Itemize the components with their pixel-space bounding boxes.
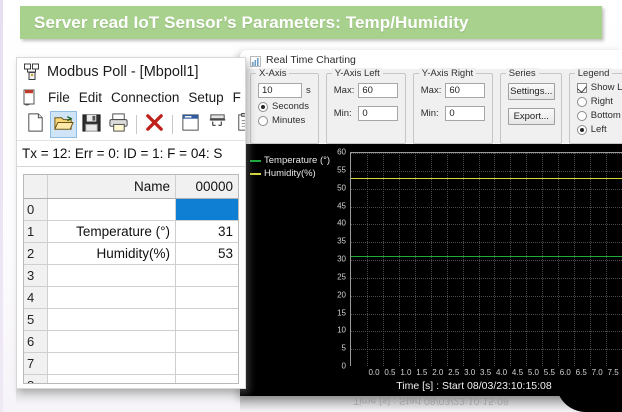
show-legend-option[interactable]: Show Legend [577, 82, 622, 93]
new-file-icon [25, 112, 46, 138]
chart-gridline-horizontal [351, 331, 622, 332]
open-folder-icon [53, 112, 74, 138]
chart-y-axis-ticks: 051015202530354045505560 [326, 152, 346, 366]
x-tick-label: 0.0 [368, 368, 379, 377]
y-left-max-input[interactable]: 60 [358, 83, 397, 98]
modbus-window-reflection [16, 387, 244, 405]
slide-left-border [0, 0, 3, 412]
chart-gridline-vertical [494, 153, 495, 366]
chart-gridline-vertical [590, 153, 591, 366]
x-tick-label: 1.0 [400, 368, 411, 377]
modbus-toolbar [17, 109, 245, 141]
slide-title-banner: Server read IoT Sensor’s Parameters: Tem… [20, 6, 602, 39]
table-row[interactable]: 3 [24, 265, 238, 287]
y-axis-left-group: Y-Axis Left Max: 60 Min: 0 [326, 73, 406, 144]
y-tick-label: 35 [337, 237, 346, 246]
x-tick-label: 2.5 [448, 368, 459, 377]
radio-legend-right-icon[interactable] [577, 97, 587, 107]
charting-titlebar: Real Time Charting [240, 50, 622, 69]
table-row[interactable]: 0 [24, 199, 238, 221]
row-value-cell[interactable] [176, 309, 238, 330]
x-axis-seconds-label: Seconds [272, 101, 309, 112]
table-row[interactable]: 6 [24, 331, 238, 353]
y-left-max-label: Max: [334, 85, 355, 96]
table-row[interactable]: 1Temperature (°)31 [24, 221, 238, 243]
real-time-charting-window: Real Time Charting X-Axis 10 s Seconds M… [240, 50, 622, 396]
y-tick-label: 15 [337, 308, 346, 317]
y-right-min-label: Min: [421, 108, 442, 119]
x-tick-label: 6.0 [560, 368, 571, 377]
clipboard-icon [234, 112, 245, 138]
row-name-cell[interactable] [48, 265, 176, 286]
row-index-cell: 8 [24, 375, 48, 384]
modbus-poll-window: Modbus Poll - [Mbpoll1] FileEditConnecti… [16, 57, 246, 389]
y-axis-right-group-title: Y-Axis Right [419, 68, 476, 79]
modbus-window-title: Modbus Poll - [Mbpoll1] [47, 64, 199, 80]
row-index-cell: 6 [24, 331, 48, 352]
y-left-min-input[interactable]: 0 [358, 106, 397, 121]
y-tick-label: 0 [342, 362, 346, 371]
legend-color-swatch [250, 160, 261, 162]
menu-item-f[interactable]: F [233, 90, 241, 105]
chart-gridline-horizontal [351, 278, 622, 279]
series-export-button[interactable]: Export... [508, 108, 555, 125]
table-row[interactable]: 7 [24, 353, 238, 375]
y-tick-label: 10 [337, 326, 346, 335]
table-row[interactable]: 4 [24, 287, 238, 309]
menu-item-edit[interactable]: Edit [79, 90, 102, 105]
x-axis-unit-label: s [306, 85, 311, 96]
toolbar-separator [172, 115, 173, 134]
legend-label: Humidity(%) [264, 168, 316, 179]
y-tick-label: 45 [337, 201, 346, 210]
x-tick-label: 1.5 [416, 368, 427, 377]
chart-gridline-horizontal [351, 153, 622, 154]
x-tick-label: 3.5 [480, 368, 491, 377]
y-tick-label: 55 [337, 165, 346, 174]
chart-gridline-horizontal [351, 242, 622, 243]
radio-seconds-icon[interactable] [258, 102, 268, 112]
x-tick-label: 7.5 [608, 368, 619, 377]
x-tick-label: 7.0 [592, 368, 603, 377]
toolbar-print-button[interactable] [106, 112, 131, 137]
chart-window-icon [250, 54, 261, 65]
row-value-cell[interactable]: 53 [176, 243, 238, 264]
chart-gridline-vertical [479, 153, 480, 366]
y-tick-label: 5 [342, 344, 346, 353]
y-tick-label: 20 [337, 290, 346, 299]
y-tick-label: 50 [337, 183, 346, 192]
menu-item-connection[interactable]: Connection [111, 90, 179, 105]
header-address-cell: 00000 [176, 175, 238, 198]
toolbar-clipboard-button[interactable] [232, 112, 245, 137]
header-corner-cell [24, 175, 48, 198]
row-name-cell[interactable] [48, 287, 176, 308]
page-title: Server read IoT Sensor’s Parameters: Tem… [20, 13, 469, 33]
chart-gridline-horizontal [351, 171, 622, 172]
x-tick-label: 0.5 [384, 368, 395, 377]
slide-canvas: Server read IoT Sensor’s Parameters: Tem… [0, 0, 622, 412]
chart-gridline-vertical [367, 153, 368, 366]
row-name-cell[interactable]: Humidity(%) [48, 243, 176, 264]
charting-window-title: Real Time Charting [266, 54, 356, 66]
modbus-menubar: FileEditConnectionSetupF [17, 85, 245, 109]
row-value-cell[interactable]: 31 [176, 221, 238, 242]
y-axis-right-group: Y-Axis Right Max: 60 Min: 0 [413, 73, 493, 144]
y-tick-label: 30 [337, 255, 346, 264]
x-axis-group-title: X-Axis [256, 68, 289, 79]
legend-color-swatch [250, 173, 261, 175]
radio-legend-bottom-icon[interactable] [577, 111, 587, 121]
chart-gridline-vertical [447, 153, 448, 366]
series-group-title: Series [506, 68, 539, 79]
table-row[interactable]: 5 [24, 309, 238, 331]
y-right-max-input[interactable]: 60 [445, 83, 484, 98]
row-value-cell[interactable] [176, 287, 238, 308]
show-legend-label: Show Legend [591, 82, 622, 93]
x-tick-label: 4.5 [512, 368, 523, 377]
document-icon [23, 89, 38, 106]
chart-gridline-vertical [606, 153, 607, 366]
toolbar-read-write-definition-button[interactable] [205, 112, 230, 137]
chart-legend: Temperature (°)Humidity(%) [250, 154, 324, 180]
chart-gridline-vertical [415, 153, 416, 366]
chart-gridline-vertical [526, 153, 527, 366]
row-index-cell: 7 [24, 353, 48, 374]
chart-gridline-horizontal [351, 260, 622, 261]
row-value-cell[interactable] [176, 375, 238, 384]
y-tick-label: 40 [337, 219, 346, 228]
legend-bottom-label: Bottom [591, 110, 621, 121]
series-group: Series Settings... Export... [500, 73, 562, 144]
row-value-cell[interactable] [176, 331, 238, 352]
chart-gridline-vertical [558, 153, 559, 366]
legend-group: Legend Show Legend Right Bottom Left [569, 73, 622, 144]
row-name-cell[interactable] [48, 331, 176, 352]
header-name-cell: Name [48, 175, 176, 198]
chart-gridline-horizontal [351, 349, 622, 350]
chart-gridline-horizontal [351, 296, 622, 297]
row-index-cell: 5 [24, 309, 48, 330]
chart-gridline-vertical [510, 153, 511, 366]
chart-gridline-vertical [431, 153, 432, 366]
x-axis-minutes-option[interactable]: Minutes [258, 115, 311, 126]
chart-x-axis-ticks: 0.00.51.01.52.02.53.03.54.04.55.05.56.06… [350, 368, 622, 380]
chart-series-line [351, 256, 622, 257]
row-name-cell[interactable] [48, 353, 176, 374]
row-name-cell[interactable]: Temperature (°) [48, 221, 176, 242]
row-value-cell[interactable] [176, 353, 238, 374]
toolbar-window-properties-button[interactable] [178, 112, 203, 137]
y-tick-label: 60 [337, 148, 346, 157]
modbus-data-grid[interactable]: Name0000001Temperature (°)312Humidity(%)… [23, 174, 239, 384]
table-row[interactable]: 8 [24, 375, 238, 384]
x-tick-label: 5.5 [544, 368, 555, 377]
row-index-cell: 2 [24, 243, 48, 264]
x-tick-label: 3.0 [464, 368, 475, 377]
x-axis-group: X-Axis 10 s Seconds Minutes [250, 73, 319, 144]
y-right-min-input[interactable]: 0 [445, 106, 484, 121]
row-name-cell[interactable] [48, 199, 176, 220]
y-tick-label: 25 [337, 272, 346, 281]
legend-position-bottom-option[interactable]: Bottom [577, 110, 622, 121]
row-index-cell: 1 [24, 221, 48, 242]
row-index-cell: 3 [24, 265, 48, 286]
legend-group-title: Legend [575, 68, 613, 79]
row-value-cell[interactable] [176, 199, 238, 220]
modbus-status-line: Tx = 12: Err = 0: ID = 1: F = 04: S [17, 141, 245, 167]
chart-canvas[interactable] [350, 152, 622, 366]
chart-gridline-vertical [399, 153, 400, 366]
legend-right-label: Right [591, 96, 613, 107]
read-write-definition-icon [207, 112, 228, 138]
toolbar-save-disk-button[interactable] [79, 112, 104, 137]
charting-controls-bar: X-Axis 10 s Seconds Minutes Y-Axis Left [240, 69, 622, 144]
y-left-min-label: Min: [334, 108, 355, 119]
chart-plot-inner: 051015202530354045505560 0.00.51.01.52.0… [326, 152, 622, 396]
legend-left-label: Left [591, 124, 607, 135]
x-tick-label: 2.0 [432, 368, 443, 377]
toolbar-delete-x-button[interactable] [142, 112, 167, 137]
legend-item: Humidity(%) [250, 167, 324, 180]
chart-gridline-vertical [383, 153, 384, 366]
print-icon [108, 112, 129, 138]
chart-gridline-horizontal [351, 314, 622, 315]
chart-series-line [351, 178, 622, 179]
menu-item-file[interactable]: File [48, 90, 70, 105]
save-disk-icon [81, 112, 102, 138]
table-header-row: Name00000 [24, 175, 238, 199]
chart-gridline-vertical [574, 153, 575, 366]
menu-item-setup[interactable]: Setup [188, 90, 223, 105]
radio-minutes-icon[interactable] [258, 116, 268, 126]
legend-position-left-option[interactable]: Left [577, 124, 622, 135]
chart-plot-area[interactable]: 051015202530354045505560 0.00.51.01.52.0… [240, 144, 622, 396]
delete-x-icon [144, 112, 165, 138]
row-index-cell: 4 [24, 287, 48, 308]
y-right-max-label: Max: [421, 85, 442, 96]
legend-item: Temperature (°) [250, 154, 324, 167]
series-settings-button[interactable]: Settings... [508, 83, 555, 100]
x-tick-label: 4.0 [496, 368, 507, 377]
chart-gridline-horizontal [351, 189, 622, 190]
chart-gridline-vertical [463, 153, 464, 366]
table-row[interactable]: 2Humidity(%)53 [24, 243, 238, 265]
chart-gridline-horizontal [351, 207, 622, 208]
window-properties-icon [180, 112, 201, 138]
x-tick-label: 5.0 [528, 368, 539, 377]
radio-legend-left-icon[interactable] [577, 125, 587, 135]
y-axis-left-group-title: Y-Axis Left [332, 68, 383, 79]
chart-gridline-horizontal [351, 224, 622, 225]
row-index-cell: 0 [24, 199, 48, 220]
chart-gridline-vertical [542, 153, 543, 366]
row-name-cell[interactable] [48, 375, 176, 384]
modbus-app-icon [24, 63, 41, 80]
checkbox-show-legend-icon[interactable] [577, 83, 587, 93]
x-axis-minutes-label: Minutes [272, 115, 305, 126]
modbus-titlebar: Modbus Poll - [Mbpoll1] [17, 58, 245, 85]
row-name-cell[interactable] [48, 309, 176, 330]
x-tick-label: 6.5 [576, 368, 587, 377]
legend-label: Temperature (°) [264, 155, 330, 166]
toolbar-open-folder-button[interactable] [50, 111, 77, 138]
toolbar-new-file-button[interactable] [23, 112, 48, 137]
row-value-cell[interactable] [176, 265, 238, 286]
legend-position-right-option[interactable]: Right [577, 96, 622, 107]
x-axis-seconds-option[interactable]: Seconds [258, 101, 311, 112]
x-axis-span-input[interactable]: 10 [258, 83, 302, 98]
toolbar-separator [136, 115, 137, 134]
